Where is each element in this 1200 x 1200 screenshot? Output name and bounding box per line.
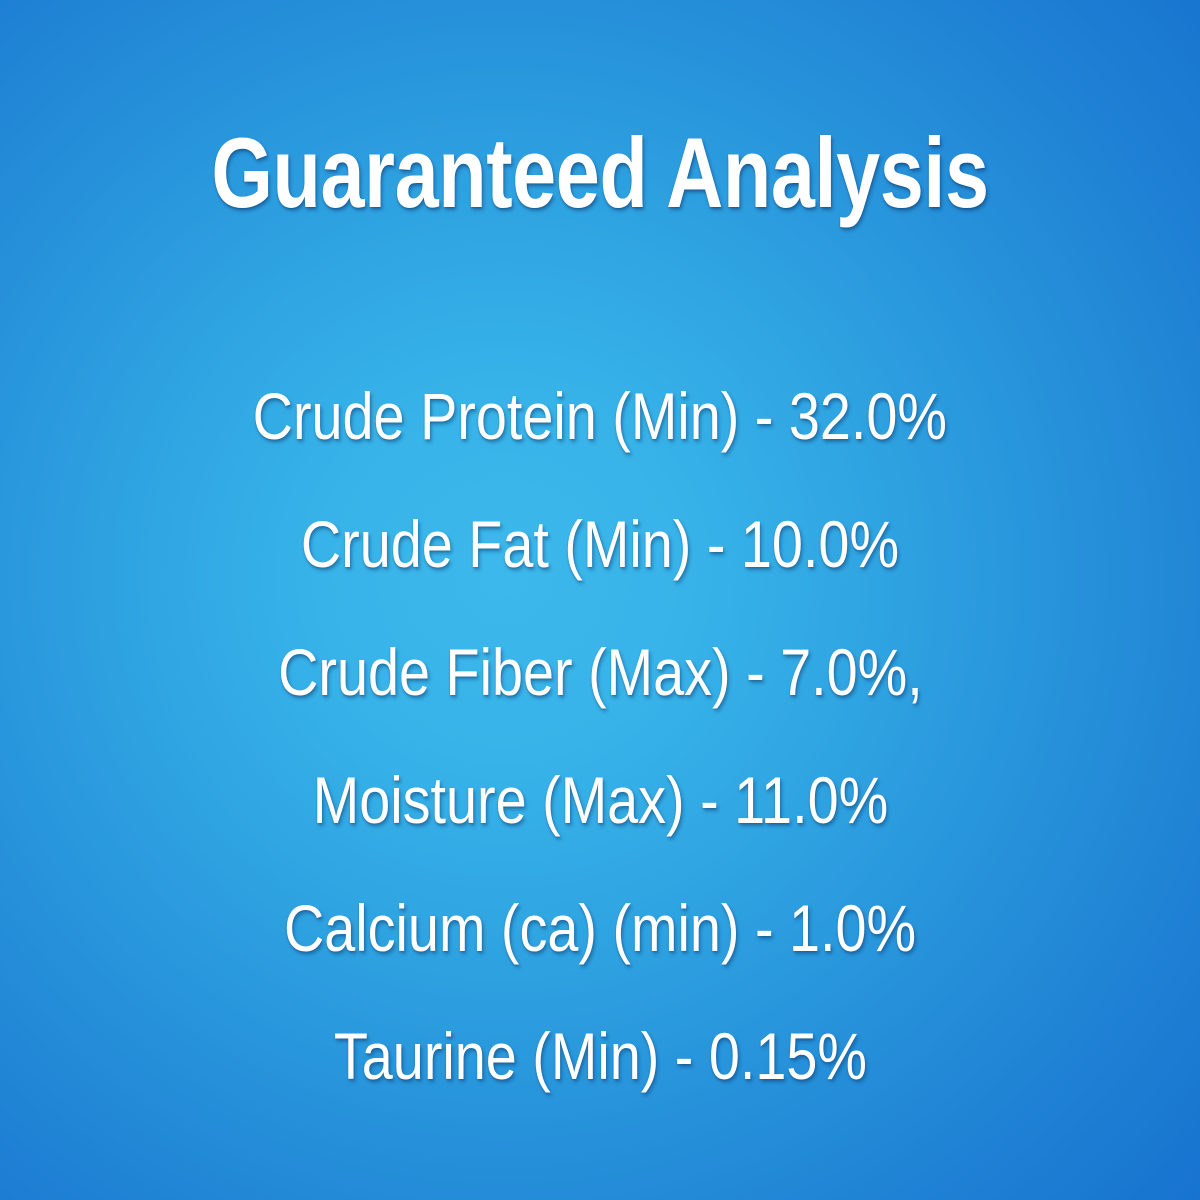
analysis-row-crude-fat: Crude Fat (Min) - 10.0% [301,480,899,608]
panel-content: Guaranteed Analysis Crude Protein (Min) … [0,0,1200,1200]
analysis-row-moisture: Moisture (Max) - 11.0% [312,736,887,864]
guaranteed-analysis-panel: Guaranteed Analysis Crude Protein (Min) … [0,0,1200,1200]
analysis-row-calcium: Calcium (ca) (min) - 1.0% [284,864,916,992]
analysis-row-taurine: Taurine (Min) - 0.15% [333,992,866,1120]
analysis-list: Crude Protein (Min) - 32.0% Crude Fat (M… [0,352,1200,1120]
page-title: Guaranteed Analysis [120,122,1080,225]
analysis-row-crude-fiber: Crude Fiber (Max) - 7.0%, [278,608,923,736]
analysis-row-crude-protein: Crude Protein (Min) - 32.0% [253,352,947,480]
